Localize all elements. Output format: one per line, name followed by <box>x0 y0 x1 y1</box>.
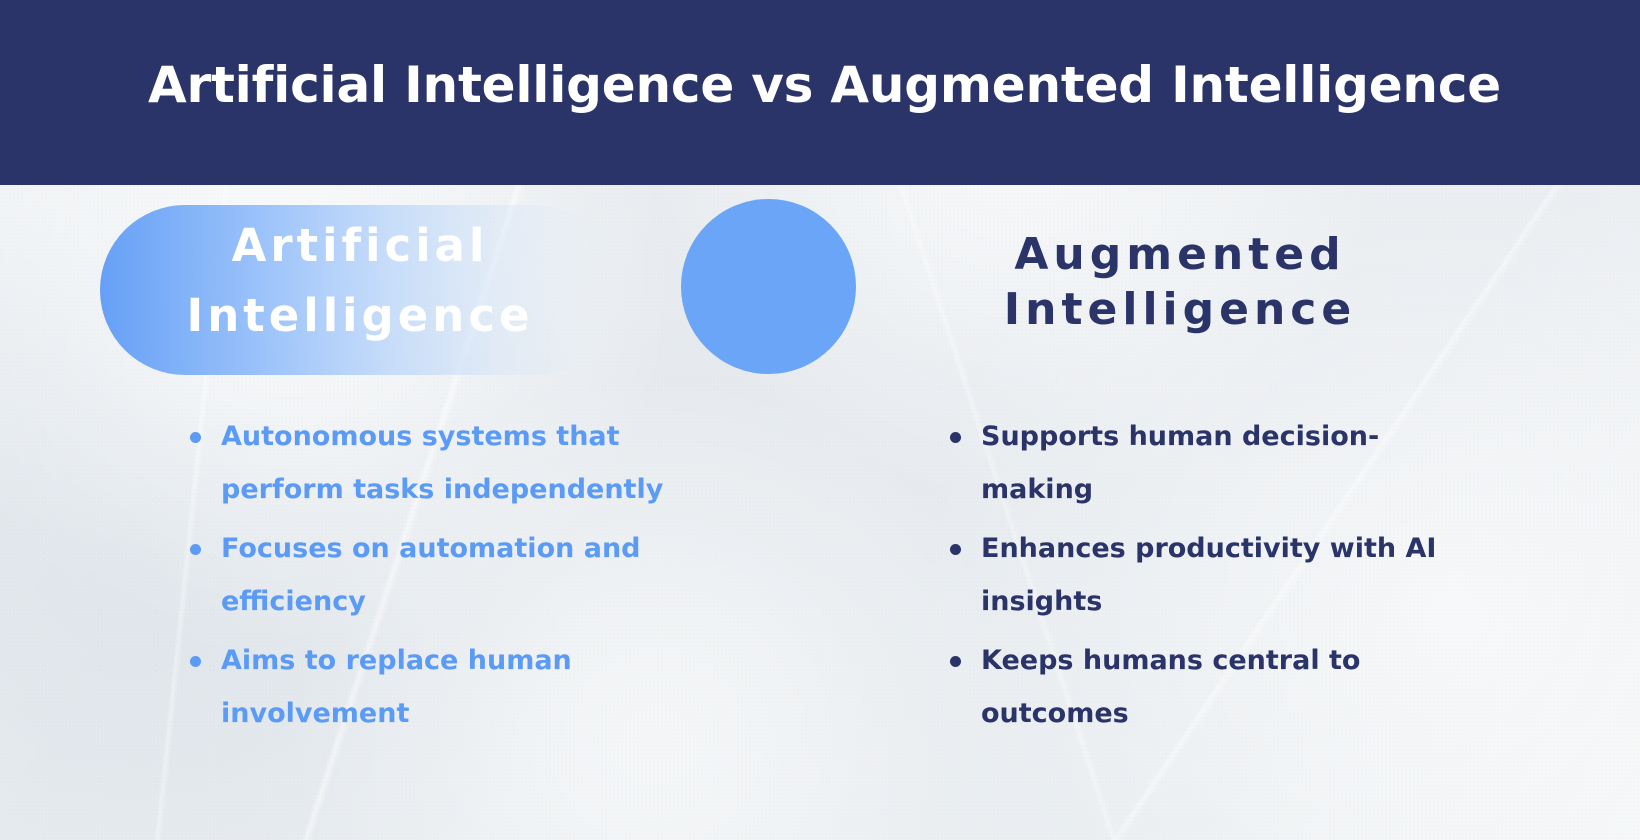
bullet-dot-icon <box>950 656 961 667</box>
bullet-dot-icon <box>190 656 201 667</box>
list-item: Focuses on automation and efficiency <box>185 522 685 629</box>
header-band: Artificial Intelligence vs Augmented Int… <box>0 0 1640 185</box>
list-item-label: Focuses on automation and efficiency <box>221 533 641 617</box>
augmented-intelligence-bullet-list: Supports human decision-making Enhances … <box>945 410 1445 746</box>
divider-circle-icon <box>681 199 856 374</box>
page-title: Artificial Intelligence vs Augmented Int… <box>148 57 1448 113</box>
list-item-label: Keeps humans central to outcomes <box>981 645 1360 729</box>
artificial-intelligence-heading: Artificial Intelligence <box>100 211 620 351</box>
ai-heading-line-2: Intelligence <box>186 289 533 342</box>
list-item-label: Aims to replace human involvement <box>221 645 572 729</box>
list-item: Autonomous systems that perform tasks in… <box>185 410 685 517</box>
list-item: Aims to replace human involvement <box>185 634 685 741</box>
slide-canvas: Artificial Intelligence vs Augmented Int… <box>0 0 1640 840</box>
list-item: Enhances productivity with AI insights <box>945 522 1445 629</box>
artificial-intelligence-bullet-list: Autonomous systems that perform tasks in… <box>185 410 685 746</box>
list-item-label: Enhances productivity with AI insights <box>981 533 1436 617</box>
aug-heading-line-1: Augmented <box>930 227 1430 282</box>
list-item-label: Supports human decision-making <box>981 421 1379 505</box>
list-item: Keeps humans central to outcomes <box>945 634 1445 741</box>
bullet-dot-icon <box>950 432 961 443</box>
ai-heading-line-1: Artificial <box>232 219 489 272</box>
bullet-dot-icon <box>950 544 961 555</box>
comparison-content: Artificial Intelligence Augmented Intell… <box>0 185 1640 840</box>
bullet-dot-icon <box>190 544 201 555</box>
augmented-intelligence-heading: Augmented Intelligence <box>930 227 1430 337</box>
list-item: Supports human decision-making <box>945 410 1445 517</box>
aug-heading-line-2: Intelligence <box>930 282 1430 337</box>
bullet-dot-icon <box>190 432 201 443</box>
list-item-label: Autonomous systems that perform tasks in… <box>221 421 663 505</box>
